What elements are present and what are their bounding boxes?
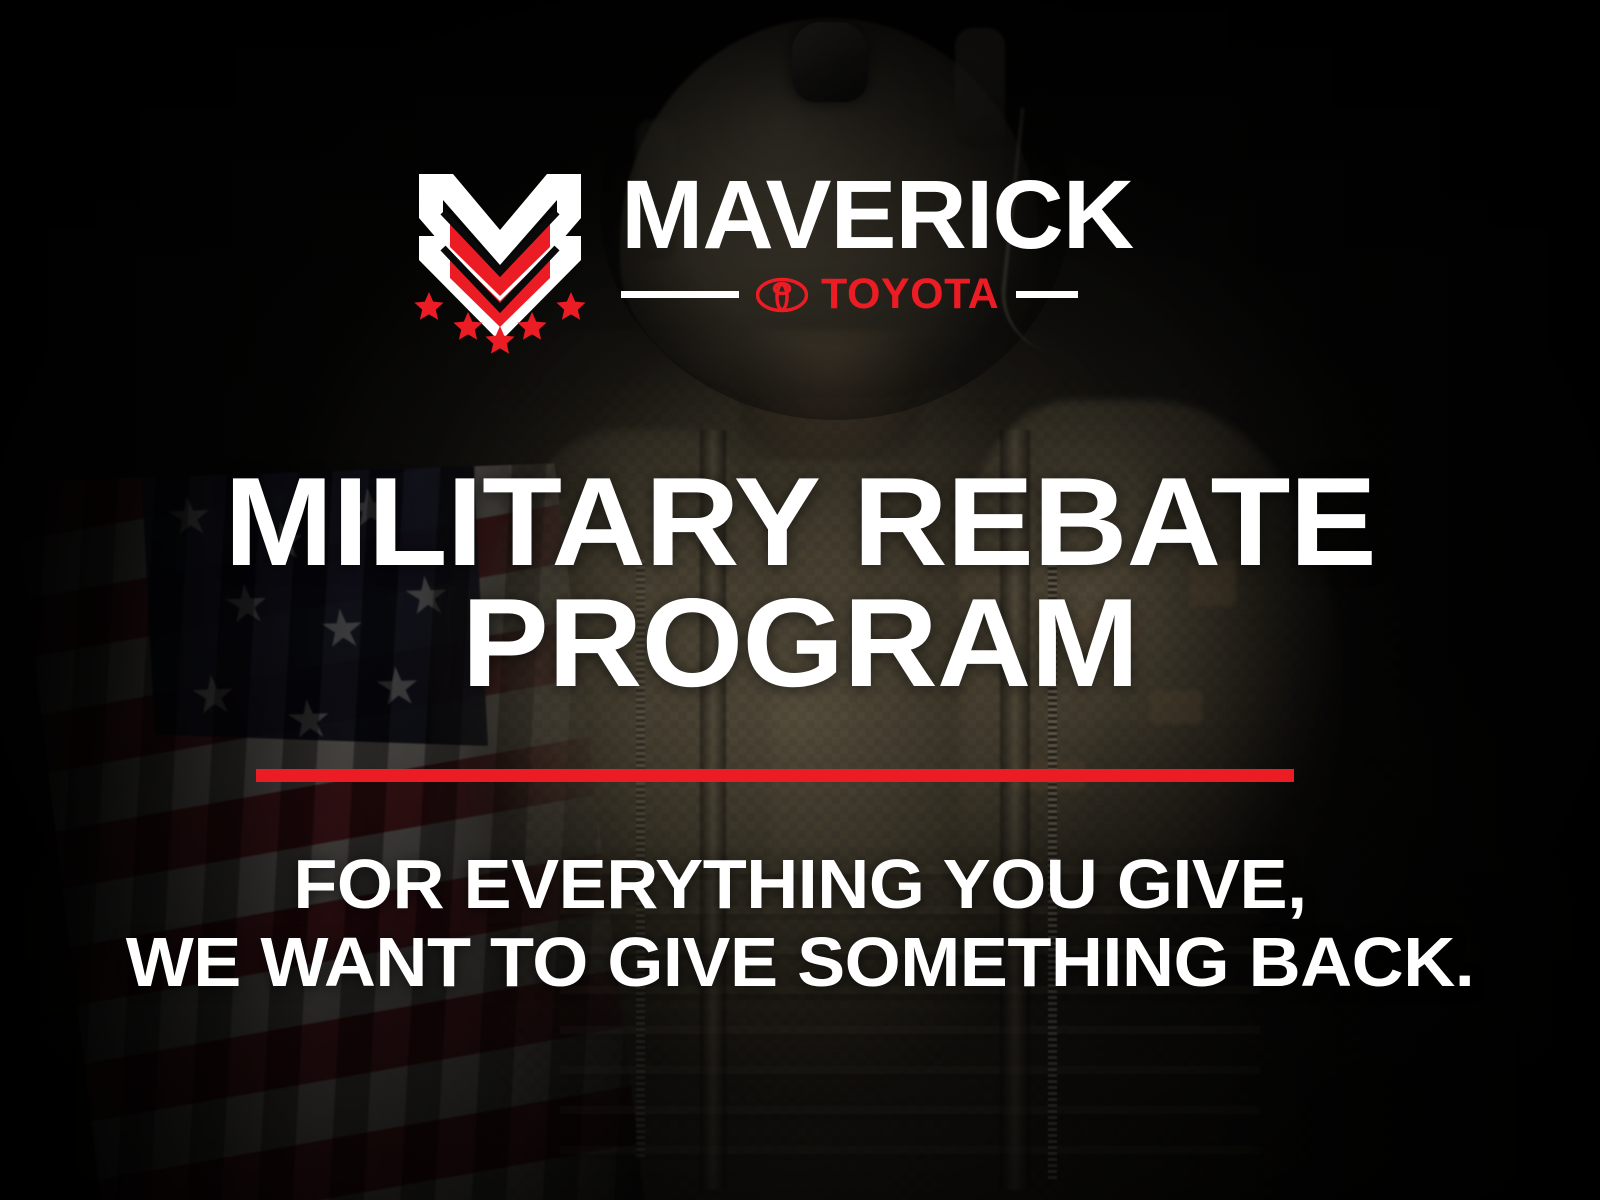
- headline-line-2: PROGRAM: [0, 583, 1600, 704]
- lockup-rule-right: [1016, 291, 1078, 298]
- lockup-rule-left: [621, 291, 739, 298]
- headline-line-1: MILITARY REBATE: [0, 462, 1600, 583]
- subheadline-line-2: WE WANT TO GIVE SOMETHING BACK.: [0, 923, 1600, 1001]
- banner-stage: MAVERICK TOYOTA MILITARY: [0, 0, 1600, 1200]
- banner-content: MAVERICK TOYOTA MILITARY: [0, 0, 1600, 1200]
- subheadline-line-1: FOR EVERYTHING YOU GIVE,: [0, 845, 1600, 923]
- brand-wordmark: MAVERICK TOYOTA: [621, 160, 1173, 316]
- manufacturer-name: TOYOTA: [821, 273, 999, 316]
- page-subtitle: FOR EVERYTHING YOU GIVE, WE WANT TO GIVE…: [0, 845, 1600, 1002]
- toyota-mark-group: TOYOTA: [739, 273, 1016, 316]
- toyota-ellipse-emblem-icon: [756, 277, 808, 313]
- brand-logo-lockup[interactable]: MAVERICK TOYOTA: [413, 160, 1173, 360]
- toyota-lockup-row: TOYOTA: [621, 273, 1148, 316]
- page-title: MILITARY REBATE PROGRAM: [0, 462, 1600, 704]
- red-divider-rule: [256, 769, 1294, 782]
- chevron-rank-emblem-icon: [413, 160, 588, 355]
- brand-name: MAVERICK: [621, 160, 1184, 257]
